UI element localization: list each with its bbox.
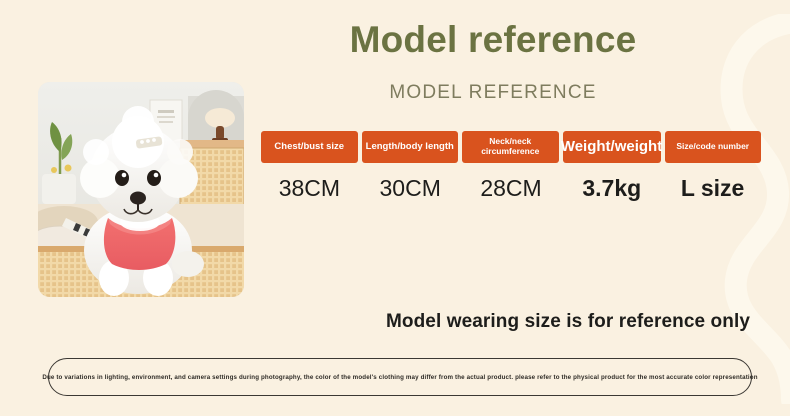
spec-value-weight: 3.7kg	[563, 169, 660, 207]
spec-header-weight: Weight/weight	[563, 131, 661, 163]
page-title: Model reference	[258, 20, 728, 61]
reference-note: Model wearing size is for reference only	[300, 311, 750, 333]
spec-value-size: L size	[664, 169, 761, 207]
disclaimer-text: Due to variations in lighting, environme…	[42, 374, 757, 381]
model-reference-banner: Model reference MODEL REFERENCE Chest/bu…	[0, 0, 790, 416]
spec-header-size: Size/code number	[665, 131, 762, 163]
page-subtitle: MODEL REFERENCE	[258, 82, 728, 104]
spec-table-header-row: Chest/bust size Length/body length Neck/…	[261, 131, 761, 163]
spec-table-value-row: 38CM 30CM 28CM 3.7kg L size	[261, 169, 761, 207]
spec-header-chest: Chest/bust size	[261, 131, 358, 163]
spec-table: Chest/bust size Length/body length Neck/…	[261, 131, 761, 207]
spec-value-neck: 28CM	[463, 169, 560, 207]
spec-header-length: Length/body length	[362, 131, 459, 163]
disclaimer-box: Due to variations in lighting, environme…	[48, 358, 752, 396]
spec-header-neck: Neck/neck circumference	[462, 131, 559, 163]
spec-value-length: 30CM	[362, 169, 459, 207]
decorative-ribbon-icon	[666, 14, 790, 404]
spec-value-chest: 38CM	[261, 169, 358, 207]
model-photo	[38, 82, 244, 297]
